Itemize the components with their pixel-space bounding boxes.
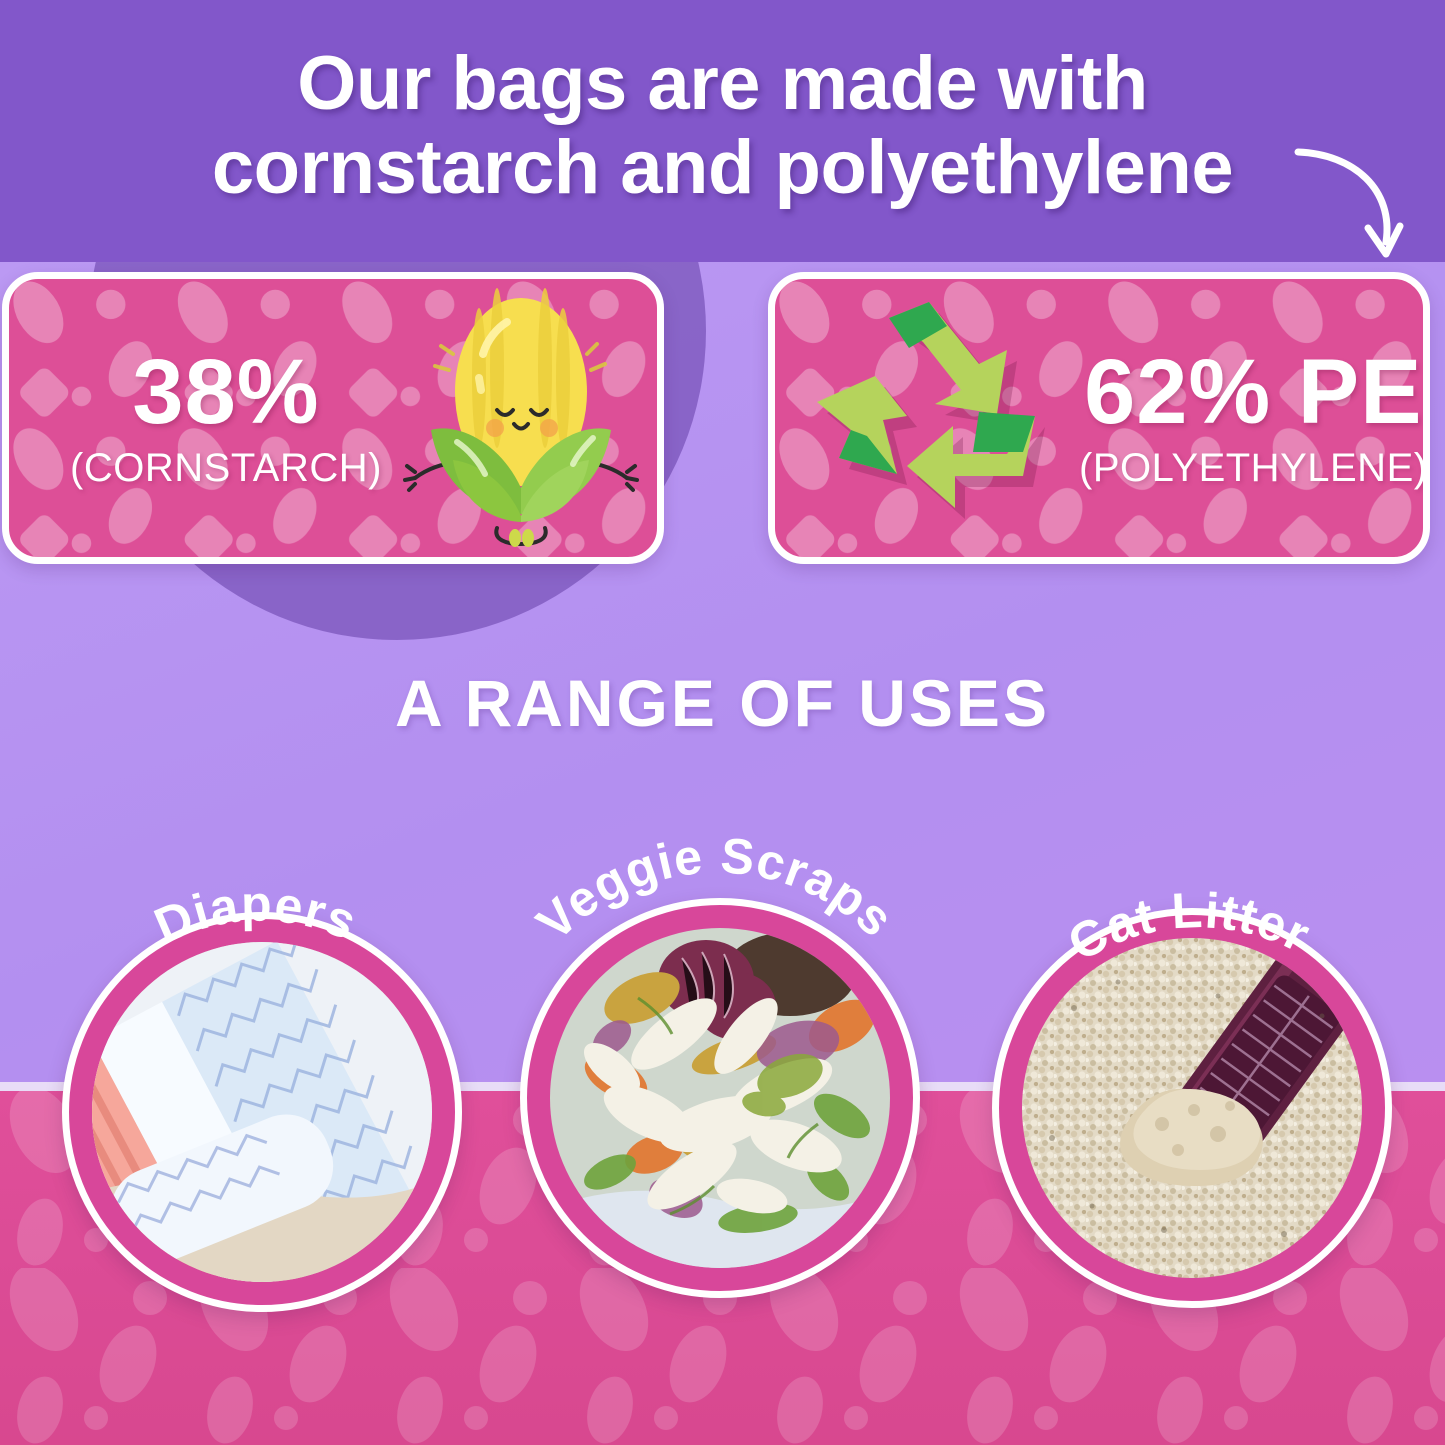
use-item-diapers: Diapers <box>62 912 462 1312</box>
polyethylene-percent: 62% PE <box>1079 344 1428 440</box>
uses-heading: A RANGE OF USES <box>0 665 1445 741</box>
polyethylene-stat-text: 62% PE (POLYETHYLENE) <box>1079 344 1428 492</box>
stat-card-polyethylene: 62% PE (POLYETHYLENE) <box>768 272 1430 564</box>
infographic-poster: Our bags are made with cornstarch and po… <box>0 0 1445 1445</box>
page-title: Our bags are made with cornstarch and po… <box>0 42 1445 210</box>
stat-card-cornstarch: 38% (CORNSTARCH) <box>2 272 664 564</box>
curved-down-arrow-icon <box>1290 138 1410 268</box>
recycle-icon <box>813 300 1063 537</box>
title-line-1: Our bags are made with <box>0 42 1445 126</box>
polyethylene-material-label: (POLYETHYLENE) <box>1079 444 1428 492</box>
diapers-photo <box>92 942 432 1282</box>
cornstarch-material-label: (CORNSTARCH) <box>61 444 391 492</box>
use-item-veggie-scraps: Veggie Scraps <box>520 898 920 1298</box>
cornstarch-percent: 38% <box>61 344 391 440</box>
use-item-cat-litter: Cat Litter <box>992 908 1392 1308</box>
cat-litter-photo <box>1022 938 1362 1278</box>
corn-mascot-icon <box>397 282 647 555</box>
cornstarch-stat-text: 38% (CORNSTARCH) <box>61 344 391 492</box>
title-line-2: cornstarch and polyethylene <box>0 126 1445 210</box>
veggie-scraps-photo <box>550 928 890 1268</box>
